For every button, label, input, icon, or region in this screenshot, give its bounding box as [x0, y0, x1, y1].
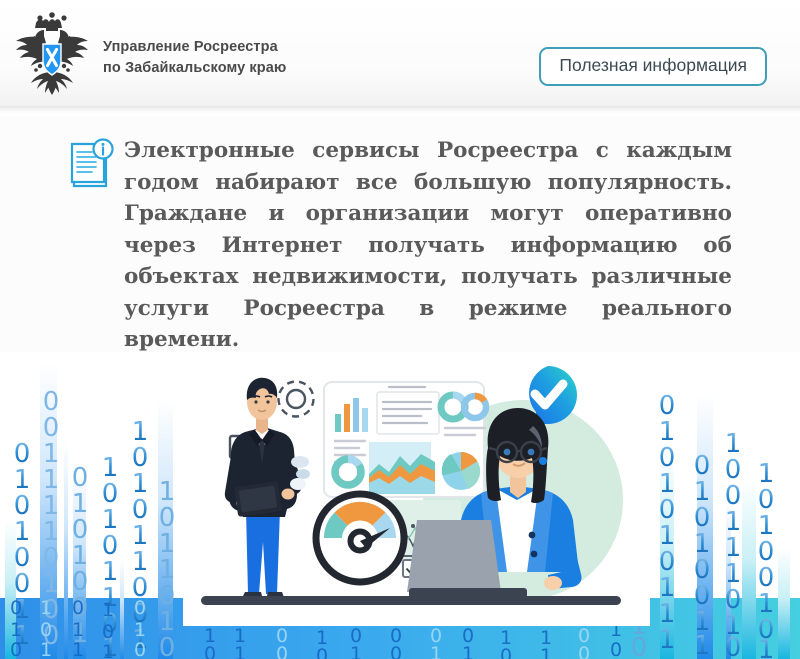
useful-information-badge[interactable]: Полезная информация [539, 47, 767, 86]
svg-text:0: 0 [610, 639, 622, 659]
svg-text:1: 1 [234, 643, 246, 659]
svg-text:1: 1 [10, 619, 22, 641]
floor-line [201, 596, 621, 605]
svg-text:0: 0 [102, 621, 114, 643]
svg-text:1: 1 [102, 641, 114, 659]
svg-text:0: 0 [316, 645, 328, 659]
svg-text:1: 1 [350, 643, 362, 659]
svg-text:1: 1 [72, 639, 84, 659]
svg-text:1: 1 [540, 645, 552, 659]
svg-text:0: 0 [500, 645, 512, 659]
document-info-icon [70, 138, 116, 194]
org-name-line-2: по Забайкальскому краю [103, 58, 286, 79]
header-divider [0, 106, 800, 116]
svg-text:0: 0 [10, 597, 22, 619]
gear-icon [279, 382, 314, 417]
digital-services-illustration: 0101 0011 0011 1101 00 0101 001 1010 110… [0, 352, 800, 659]
svg-text:1: 1 [102, 599, 114, 621]
svg-text:1: 1 [40, 639, 52, 659]
svg-text:1: 1 [462, 643, 474, 659]
svg-text:0: 0 [134, 639, 146, 659]
svg-text:1: 1 [430, 643, 442, 659]
org-name-line-1: Управление Росреестра [103, 37, 286, 58]
svg-text:0: 0 [134, 597, 146, 619]
intro-paragraph: Электронные сервисы Росреестра с каждым … [124, 135, 732, 387]
page-header: Управление Росреестра по Забайкальскому … [0, 0, 800, 106]
svg-text:0: 0 [72, 597, 84, 619]
svg-text:1: 1 [72, 619, 84, 641]
svg-text:1: 1 [694, 631, 711, 659]
svg-text:0: 0 [578, 643, 590, 659]
illustration-scene [183, 352, 650, 626]
svg-text:0: 0 [276, 643, 288, 659]
svg-text:1: 1 [758, 635, 775, 659]
rosreestr-eagle-emblem [6, 6, 98, 98]
businessman-with-tablet [225, 378, 310, 600]
svg-text:0: 0 [40, 619, 52, 641]
page-title: Управление Росреестра по Забайкальскому … [103, 37, 286, 78]
svg-text:1: 1 [40, 597, 52, 619]
speedometer-gauge [316, 494, 404, 582]
svg-text:0: 0 [725, 633, 742, 659]
svg-text:0: 0 [631, 633, 648, 659]
svg-text:0: 0 [390, 643, 402, 659]
svg-text:1: 1 [659, 625, 676, 655]
analytics-dashboard-card [324, 382, 486, 497]
svg-text:0: 0 [10, 639, 22, 659]
infographic-page: Управление Росреестра по Забайкальскому … [0, 0, 800, 659]
svg-text:1: 1 [134, 619, 146, 641]
intro-text-section: Электронные сервисы Росреестра с каждым … [0, 116, 800, 358]
svg-text:0: 0 [159, 633, 176, 659]
svg-text:0: 0 [204, 643, 216, 659]
